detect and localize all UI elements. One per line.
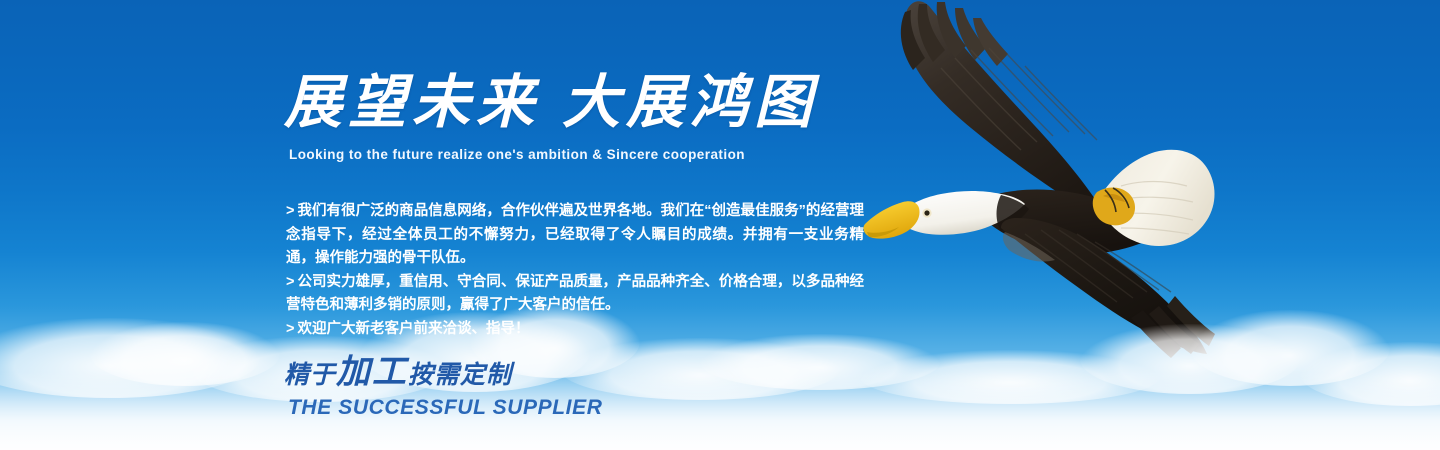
company-slogan-english: THE SUCCESSFUL SUPPLIER [288, 396, 602, 420]
promotional-banner: 展望未来大展鸿图 Looking to the future realize o… [0, 0, 1440, 450]
page-subtitle: Looking to the future realize one's ambi… [289, 147, 745, 162]
description-paragraph: >欢迎广大新老客户前来洽谈、指导！ [286, 318, 864, 342]
slogan-part-big: 加工 [336, 354, 408, 391]
slogan-part-mid: 按需定制 [408, 362, 512, 389]
bullet-marker: > [286, 203, 294, 219]
bullet-marker: > [286, 274, 294, 290]
banner-content: 展望未来大展鸿图 Looking to the future realize o… [284, 0, 884, 450]
paragraph-text: 公司实力雄厚，重信用、守合同、保证产品质量，产品品种齐全、价格合理，以多品种经营… [286, 274, 864, 314]
paragraph-text: 欢迎广大新老客户前来洽谈、指导！ [297, 321, 529, 337]
company-description: >我们有很广泛的商品信息网络，合作伙伴遍及世界各地。我们在“创造最佳服务”的经营… [286, 200, 864, 341]
company-slogan: 精于加工按需定制 [284, 356, 512, 390]
bullet-marker: > [286, 321, 294, 337]
headline-part-1: 展望未来 [284, 70, 540, 135]
headline-part-2: 大展鸿图 [562, 70, 818, 135]
paragraph-text: 我们有很广泛的商品信息网络，合作伙伴遍及世界各地。我们在“创造最佳服务”的经营理… [286, 203, 864, 266]
page-title: 展望未来大展鸿图 [284, 74, 818, 132]
description-paragraph: >我们有很广泛的商品信息网络，合作伙伴遍及世界各地。我们在“创造最佳服务”的经营… [286, 200, 864, 271]
description-paragraph: >公司实力雄厚，重信用、守合同、保证产品质量，产品品种齐全、价格合理，以多品种经… [286, 271, 864, 318]
slogan-part-small: 精于 [284, 362, 336, 389]
bald-eagle-illustration [845, 0, 1275, 396]
